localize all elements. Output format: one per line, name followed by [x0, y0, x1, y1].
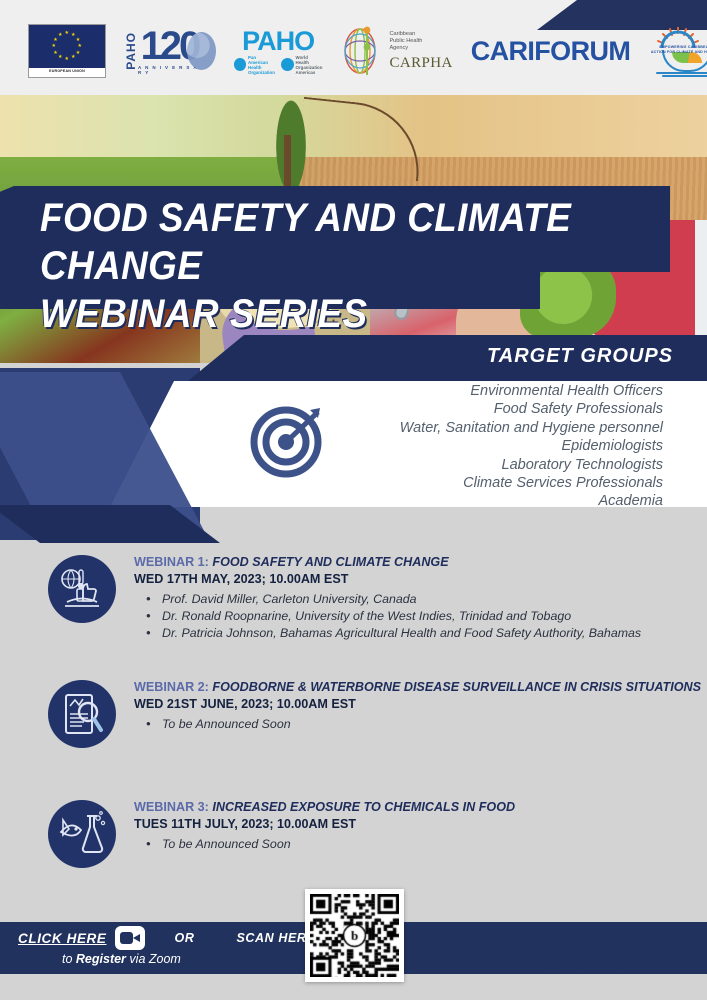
webinar-entry: WEBINAR 2: FOODBORNE & WATERBORNE DISEAS… [0, 680, 707, 748]
carpha-line-3: Agency [389, 45, 452, 52]
carpha-logo: Caribbean Public Health Agency CARPHA [340, 25, 452, 77]
cariforum-logo: CARIFORUM [471, 36, 631, 67]
webinar-speaker: Prof. David Miller, Carleton University,… [152, 591, 707, 608]
fish-flask-chemicals-icon [57, 810, 107, 858]
webinar-topic: FOODBORNE & WATERBORNE DISEASE SURVEILLA… [209, 680, 701, 694]
register-via-zoom-label: to Register via Zoom [62, 952, 347, 966]
carpha-line-2: Public Health [389, 38, 452, 45]
webinar-date: TUES 11TH JULY, 2023; 10.00AM EST [134, 816, 707, 832]
webinar-topic: INCREASED EXPOSURE TO CHEMICALS IN FOOD [209, 800, 515, 814]
webinar-speaker-list: To be Announced Soon [134, 836, 707, 853]
webinar-details: WEBINAR 1: FOOD SAFETY AND CLIMATE CHANG… [134, 555, 707, 642]
footer-tagline-line-2: FOR CLIMATE AND HEALTH [497, 962, 671, 974]
ecach-tagline: EMPOWERING CARIBBEANACTION FOR CLIMATE A… [648, 45, 707, 54]
webinar-speaker-list: Prof. David Miller, Carleton University,… [134, 591, 707, 642]
footer-tagline: EMPOWERING CARIBBEAN ACTION FOR CLIMATE … [497, 950, 671, 973]
document-magnifier-icon [58, 690, 106, 738]
webinar-number-label: WEBINAR 2: [134, 680, 209, 694]
target-group-item: Environmental Health Officers [223, 382, 663, 400]
target-groups-heading: TARGET GROUPS [487, 345, 673, 368]
webinar-heading: WEBINAR 2: FOODBORNE & WATERBORNE DISEAS… [134, 680, 707, 696]
webinar-heading: WEBINAR 1: FOOD SAFETY AND CLIMATE CHANG… [134, 555, 707, 571]
partner-logo-strip: ★★★★★★★★★★★★ EUROPEAN UNION PAHO 120 A N… [0, 16, 707, 86]
webinar-speaker: Dr. Patricia Johnson, Bahamas Agricultur… [152, 625, 707, 642]
who-seal-icon [281, 58, 294, 71]
paho-120-anniversary-logo: PAHO 120 A N N I V E R S A R Y [124, 23, 216, 79]
webinar-icon-badge [48, 555, 116, 623]
paho-who-logo: PAHO Pan American Health Organization Wo… [234, 28, 323, 75]
webinar-topic: FOOD SAFETY AND CLIMATE CHANGE [209, 555, 449, 569]
who-org-line-1: World Health [296, 55, 323, 65]
european-union-caption: EUROPEAN UNION [49, 69, 85, 73]
webinar-date: WED 17TH MAY, 2023; 10.00AM EST [134, 571, 707, 587]
paho-120-wordmark: PAHO [124, 32, 138, 70]
webinar-date: WED 21ST JUNE, 2023; 10.00AM EST [134, 696, 707, 712]
webinar-entry: WEBINAR 3: INCREASED EXPOSURE TO CHEMICA… [0, 800, 707, 868]
carpha-line-1: Caribbean [389, 31, 452, 38]
target-bullseye-icon [250, 400, 328, 478]
paho-120-anniversary-text: A N N I V E R S A R Y [138, 65, 201, 75]
or-separator: OR [175, 931, 195, 945]
webinar-number-label: WEBINAR 1: [134, 555, 209, 569]
paho-seal-icon [234, 58, 246, 71]
carpha-globe-caduceus-icon [340, 25, 386, 77]
target-group-item: Academia [223, 492, 663, 510]
webinar-number-label: WEBINAR 3: [134, 800, 209, 814]
zoom-video-icon[interactable] [115, 926, 145, 950]
registration-cta: CLICK HERE OR SCAN HERE ----> to Registe… [18, 926, 347, 966]
carpha-acronym: CARPHA [389, 55, 452, 72]
webinar-heading: WEBINAR 3: INCREASED EXPOSURE TO CHEMICA… [134, 800, 707, 816]
globe-thermometer-thumbsup-plate-icon [57, 564, 107, 614]
paho-org-line-1: Pan American [248, 55, 276, 65]
webinar-speaker: To be Announced Soon [152, 716, 707, 733]
footer-rule-top [420, 944, 680, 946]
who-org-line-2: Organization [296, 65, 323, 70]
webinar-details: WEBINAR 2: FOODBORNE & WATERBORNE DISEAS… [134, 680, 707, 733]
webinar-speaker-list: To be Announced Soon [134, 716, 707, 733]
qr-code-bitly[interactable] [305, 889, 404, 982]
webinar-entry: WEBINAR 1: FOOD SAFETY AND CLIMATE CHANG… [0, 555, 707, 642]
who-org-line-3: Americas [296, 70, 323, 75]
european-union-logo: ★★★★★★★★★★★★ EUROPEAN UNION [28, 24, 106, 78]
webinar-icon-badge [48, 800, 116, 868]
click-here-link[interactable]: CLICK HERE [18, 931, 107, 946]
paho-wordmark: PAHO [242, 28, 314, 54]
webinar-speaker: Dr. Ronald Roopnarine, University of the… [152, 608, 707, 625]
title-line-1: FOOD SAFETY AND CLIMATE CHANGE [40, 194, 654, 290]
globe-americas-icon [187, 32, 216, 70]
ecach-logo: EMPOWERING CARIBBEANACTION FOR CLIMATE A… [648, 24, 707, 78]
title-line-2: WEBINAR SERIES [40, 290, 654, 338]
paho-org-line-3: Organization [248, 70, 276, 75]
footer-tagline-line-1: EMPOWERING CARIBBEAN ACTION [497, 950, 671, 962]
webinar-icon-badge [48, 680, 116, 748]
webinar-speaker: To be Announced Soon [152, 836, 707, 853]
page-title: FOOD SAFETY AND CLIMATE CHANGE WEBINAR S… [40, 194, 654, 338]
poster-root: ★★★★★★★★★★★★ EUROPEAN UNION PAHO 120 A N… [0, 0, 707, 1000]
webinar-details: WEBINAR 3: INCREASED EXPOSURE TO CHEMICA… [134, 800, 707, 853]
